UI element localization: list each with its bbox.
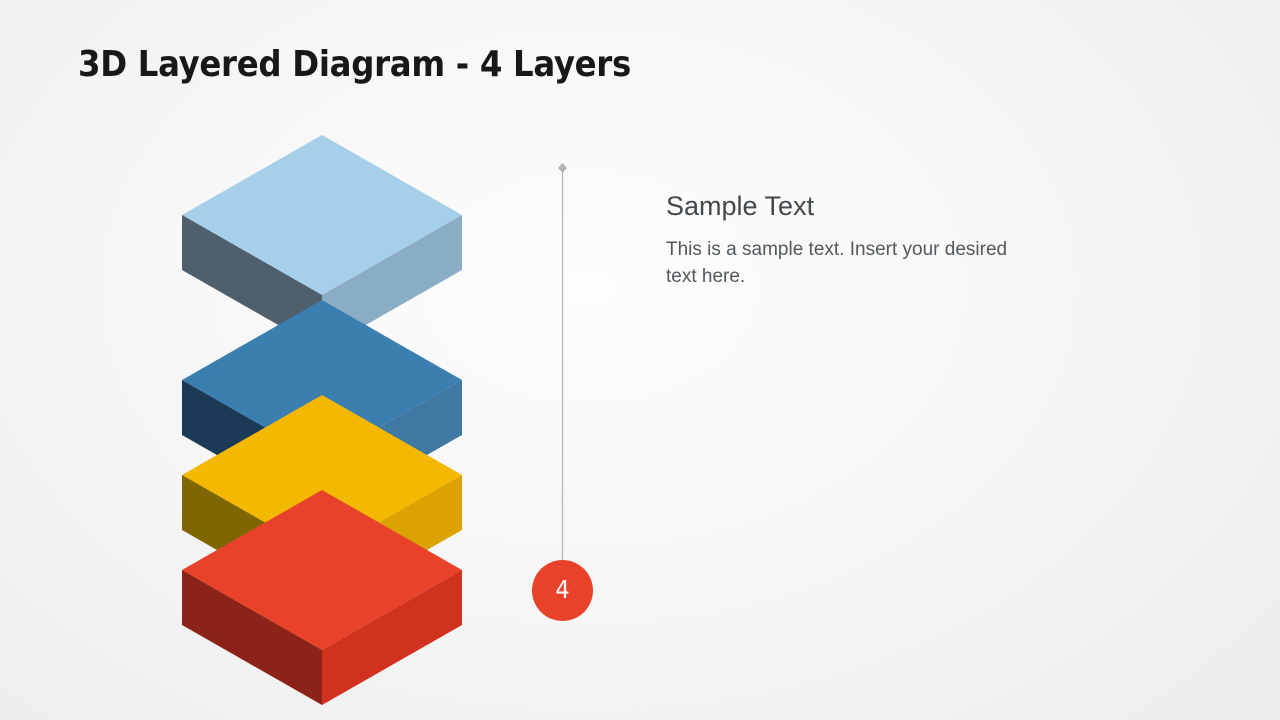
callout-heading: Sample Text (666, 192, 1046, 222)
page-title: 3D Layered Diagram - 4 Layers (78, 44, 631, 85)
callout-connector (540, 160, 586, 570)
stack-svg (170, 120, 480, 660)
callout-body-text: This is a sample text. Insert your desir… (666, 236, 1018, 291)
callout-text-block: Sample Text This is a sample text. Inser… (666, 192, 1046, 291)
layered-stack-diagram (170, 120, 480, 660)
slide-canvas: 3D Layered Diagram - 4 Layers (0, 0, 1280, 720)
layer-number-badge[interactable]: 4 (532, 560, 593, 621)
connector-diamond-icon (558, 163, 567, 173)
badge-number-label: 4 (555, 577, 569, 604)
